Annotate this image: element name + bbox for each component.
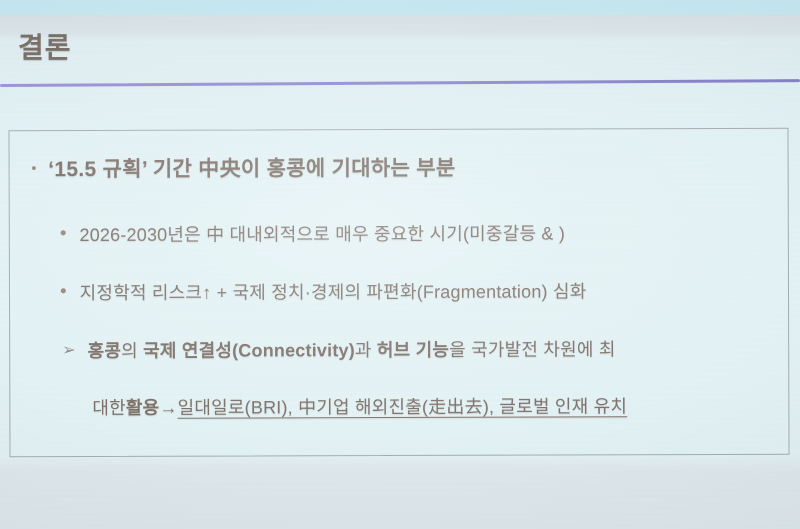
- bullet-level3-cont-seg1: 대한: [92, 394, 126, 420]
- arrow-bullet-icon: ➢: [62, 340, 75, 360]
- bullet-level3-cont-seg3: →: [159, 398, 177, 419]
- projected-slide-photo: 결론 ▪ ‘15.5 규획’ 기간 中央이 홍콩에 기대하는 부분 • 2026…: [0, 0, 800, 529]
- bullet-level2-a: • 2026-2030년은 中 대내외적으로 매우 중요한 시기(미중갈등 & …: [60, 219, 565, 247]
- bullet-level3-cont-seg2: 활용: [126, 394, 160, 420]
- bullet-level2-a-label: 2026-2030년은 中 대내외적으로 매우 중요한 시기(미중갈등 & ): [79, 219, 565, 247]
- bullet-level3-seg3: 국제 연결성(Connectivity): [143, 340, 355, 361]
- bullet-level1: ▪ ‘15.5 규획’ 기간 中央이 홍콩에 기대하는 부분: [32, 152, 456, 183]
- bullet-level3-continuation: 대한 활용 → 일대일로(BRI), 中기업 해외진출(走出去), 글로벌 인재…: [92, 392, 627, 420]
- bullet-level2-b: • 지정학적 리스크↑ + 국제 정치·경제의 파편화(Fragmentatio…: [60, 277, 587, 305]
- square-bullet-icon: ▪: [32, 160, 37, 175]
- bullet-level3-seg4: 과: [355, 340, 377, 360]
- bullet-level2-b-label: 지정학적 리스크↑ + 국제 정치·경제의 파편화(Fragmentation)…: [80, 277, 587, 305]
- title-divider: [0, 79, 800, 87]
- dot-bullet-icon: •: [60, 281, 67, 303]
- bullet-level3-seg5: 허브 기능: [377, 340, 449, 360]
- bullet-level3-cont-seg4: 일대일로(BRI), 中기업 해외진출(走出去), 글로벌 인재 유치: [178, 392, 628, 419]
- bullet-level3-seg2: 의: [121, 341, 143, 361]
- content-box: ▪ ‘15.5 규획’ 기간 中央이 홍콩에 기대하는 부분 • 2026-20…: [8, 128, 789, 457]
- bullet-level3: ➢ 홍콩의 국제 연결성(Connectivity)과 허브 기능을 국가발전 …: [62, 335, 615, 363]
- dot-bullet-icon: •: [60, 223, 67, 245]
- bullet-level3-seg1: 홍콩: [88, 341, 122, 361]
- slide-header: 결론: [0, 26, 800, 88]
- page-title: 결론: [18, 26, 72, 66]
- bullet-level3-label: 홍콩의 국제 연결성(Connectivity)과 허브 기능을 국가발전 차원…: [88, 335, 616, 363]
- bullet-level1-label: ‘15.5 규획’ 기간 中央이 홍콩에 기대하는 부분: [48, 152, 455, 183]
- bullet-level3-seg6: 을 국가발전 차원에 최: [449, 339, 616, 360]
